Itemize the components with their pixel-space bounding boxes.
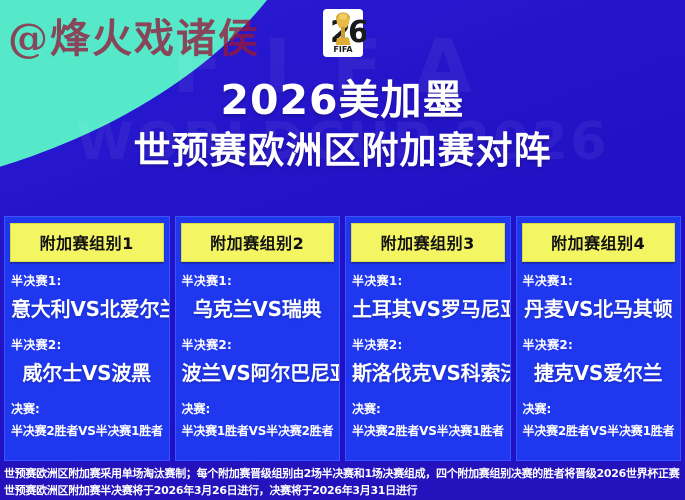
semifinal-2-match: 斯洛伐克VS科索沃 — [352, 357, 504, 386]
final-match: 半决赛2胜者VS半决赛1胜者 — [523, 422, 675, 439]
semifinal-1-label: 半决赛1: — [352, 272, 504, 289]
semifinal-2-label: 半决赛2: — [11, 336, 163, 353]
playoff-group-card-4: 附加赛组别4 半决赛1: 丹麦VS北马其顿 半决赛2: 捷克VS爱尔兰 决赛: … — [516, 216, 682, 461]
semifinal-1-match: 丹麦VS北马其顿 — [523, 293, 675, 322]
page-title: 2026美加墨 — [0, 78, 685, 124]
svg-text:FIFA: FIFA — [333, 45, 353, 54]
semifinal-1-match: 土耳其VS罗马尼亚 — [352, 293, 504, 322]
final-label: 决赛: — [182, 400, 334, 417]
page-subtitle: 世预赛欧洲区附加赛对阵 — [0, 129, 685, 173]
group-header-1: 附加赛组别1 — [10, 223, 164, 262]
group-body-2: 半决赛1: 乌克兰VS瑞典 半决赛2: 波兰VS阿尔巴尼亚 决赛: 半决赛1胜者… — [176, 262, 340, 460]
semifinal-2-label: 半决赛2: — [352, 336, 504, 353]
group-body-1: 半决赛1: 意大利VS北爱尔兰 半决赛2: 威尔士VS波黑 决赛: 半决赛2胜者… — [5, 262, 169, 460]
poster-title-block: 2026美加墨 世预赛欧洲区附加赛对阵 — [0, 78, 685, 173]
semifinal-2-label: 半决赛2: — [182, 336, 334, 353]
user-watermark: @烽火戏诸侯 — [8, 6, 260, 64]
final-label: 决赛: — [11, 400, 163, 417]
playoff-group-card-2: 附加赛组别2 半决赛1: 乌克兰VS瑞典 半决赛2: 波兰VS阿尔巴尼亚 决赛:… — [175, 216, 341, 461]
playoff-group-card-1: 附加赛组别1 半决赛1: 意大利VS北爱尔兰 半决赛2: 威尔士VS波黑 决赛:… — [4, 216, 170, 461]
playoff-group-card-3: 附加赛组别3 半决赛1: 土耳其VS罗马尼亚 半决赛2: 斯洛伐克VS科索沃 决… — [345, 216, 511, 461]
final-label: 决赛: — [352, 400, 504, 417]
semifinal-1-match: 乌克兰VS瑞典 — [182, 293, 334, 322]
semifinal-2-match: 捷克VS爱尔兰 — [523, 357, 675, 386]
semifinal-2-label: 半决赛2: — [523, 336, 675, 353]
group-body-4: 半决赛1: 丹麦VS北马其顿 半决赛2: 捷克VS爱尔兰 决赛: 半决赛2胜者V… — [517, 262, 681, 460]
final-match: 半决赛2胜者VS半决赛1胜者 — [352, 422, 504, 439]
final-match: 半决赛1胜者VS半决赛2胜者 — [182, 422, 334, 439]
semifinal-1-label: 半决赛1: — [523, 272, 675, 289]
group-header-4: 附加赛组别4 — [522, 223, 676, 262]
world-cup-playoff-poster: FIFA WORLDCUP 2026 @烽火戏诸侯 2 6 FIFA 2026美… — [0, 0, 685, 500]
playoff-groups-row: 附加赛组别1 半决赛1: 意大利VS北爱尔兰 半决赛2: 威尔士VS波黑 决赛:… — [4, 216, 681, 461]
group-body-3: 半决赛1: 土耳其VS罗马尼亚 半决赛2: 斯洛伐克VS科索沃 决赛: 半决赛2… — [346, 262, 510, 460]
footnote-line-2: 世预赛欧洲区附加赛半决赛将于2026年3月26日进行，决赛将于2026年3月31… — [4, 482, 681, 499]
semifinal-1-match: 意大利VS北爱尔兰 — [11, 293, 163, 322]
semifinal-2-match: 波兰VS阿尔巴尼亚 — [182, 357, 334, 386]
semifinal-1-label: 半决赛1: — [182, 272, 334, 289]
fifa-world-cup-26-icon: 2 6 FIFA — [320, 8, 366, 68]
semifinal-2-match: 威尔士VS波黑 — [11, 357, 163, 386]
semifinal-1-label: 半决赛1: — [11, 272, 163, 289]
group-header-3: 附加赛组别3 — [351, 223, 505, 262]
group-header-2: 附加赛组别2 — [181, 223, 335, 262]
final-match: 半决赛2胜者VS半决赛1胜者 — [11, 422, 163, 439]
final-label: 决赛: — [523, 400, 675, 417]
footnote-line-1: 世预赛欧洲区附加赛采用单场淘汰赛制；每个附加赛晋级组别由2场半决赛和1场决赛组成… — [4, 465, 681, 482]
poster-footnote: 世预赛欧洲区附加赛采用单场淘汰赛制；每个附加赛晋级组别由2场半决赛和1场决赛组成… — [0, 462, 685, 500]
